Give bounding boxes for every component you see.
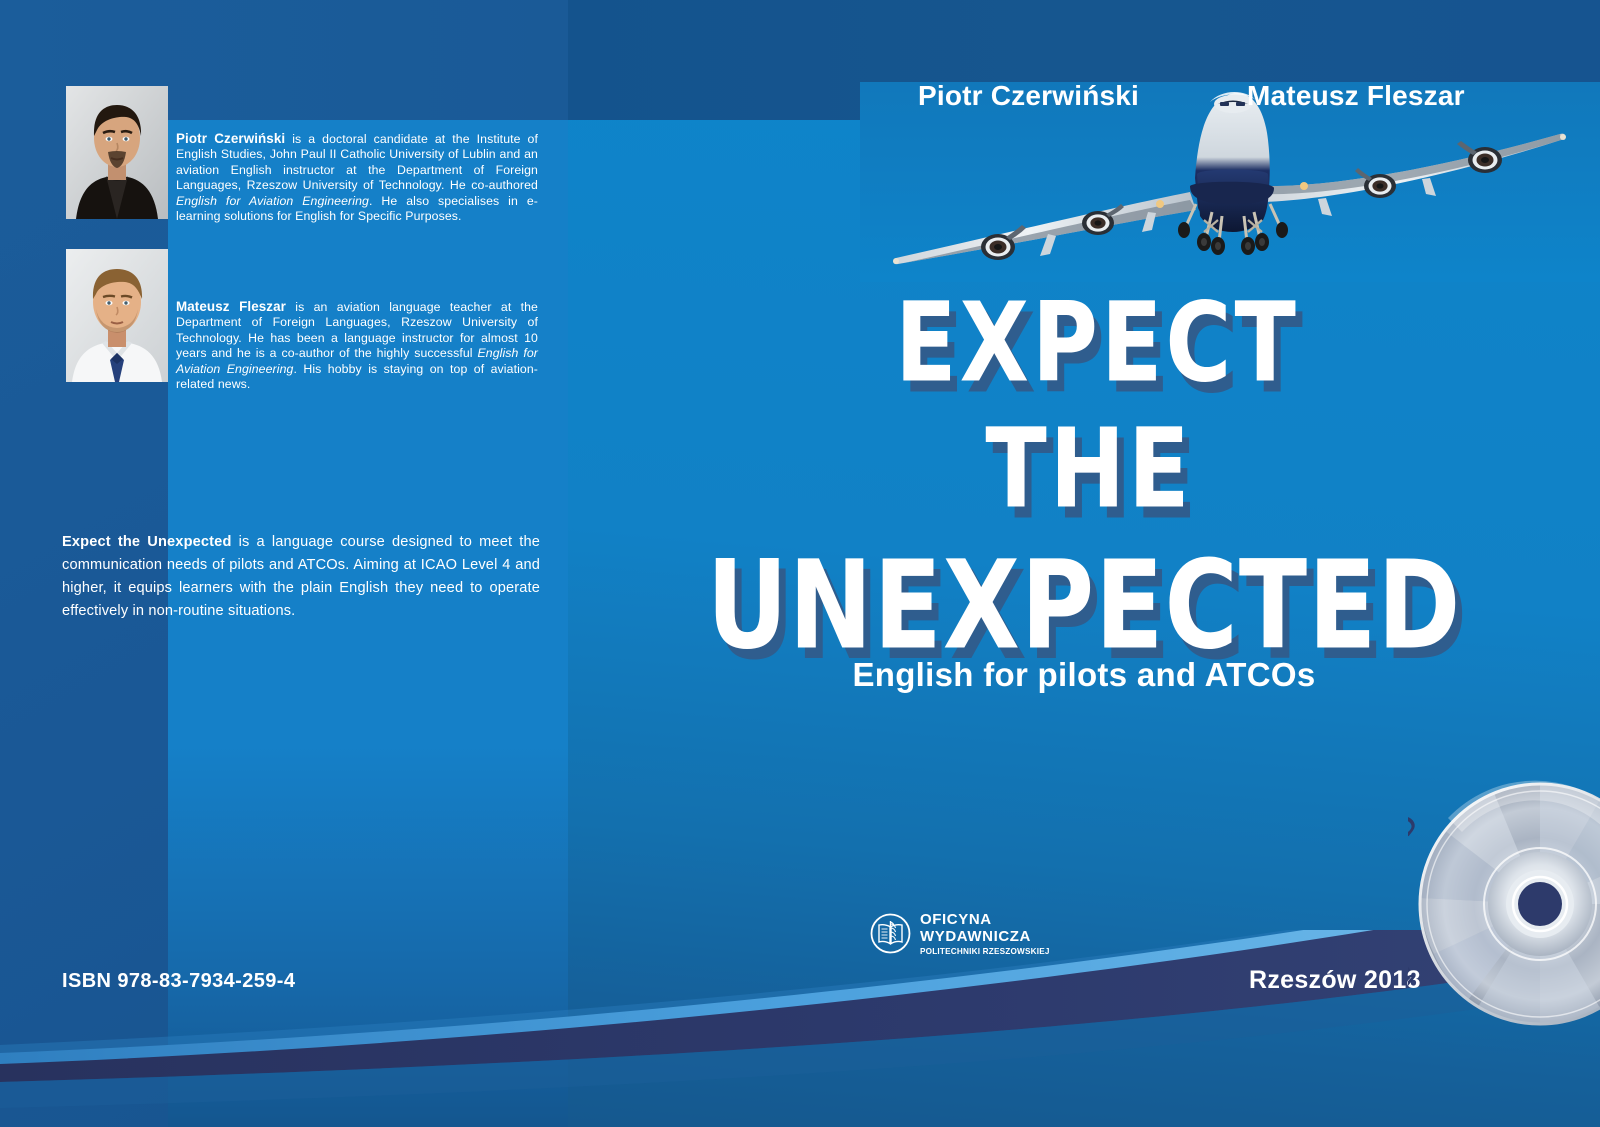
title-line-2: THE: [578, 416, 1600, 524]
audio-cd-badge: with Audio CD: [1408, 778, 1600, 1043]
book-blurb: Expect the Unexpected is a language cour…: [62, 531, 540, 623]
publisher-line-3: POLITECHNIKI RZESZOWSKIEJ: [920, 947, 1050, 956]
front-author-1: Piotr Czerwiński: [918, 80, 1139, 112]
airplane-photo: [860, 82, 1600, 282]
book-wheat-emblem-icon: [870, 913, 911, 954]
book-subtitle: English for pilots and ATCOs: [568, 656, 1600, 694]
year-place-text: Rzeszów 2018: [1249, 966, 1421, 995]
front-author-2: Mateusz Fleszar: [1247, 80, 1465, 112]
bio-author-name: Mateusz Fleszar: [176, 299, 286, 314]
bottom-wave-graphic: [0, 930, 1600, 1127]
publisher-logo: OFICYNA WYDAWNICZA POLITECHNIKI RZESZOWS…: [870, 912, 1050, 956]
title-line-3: UNEXPECTED: [568, 546, 1600, 666]
book-title: EXPECT THE UNEXPECTED: [568, 290, 1600, 644]
publisher-line-2: WYDAWNICZA: [920, 929, 1050, 946]
blurb-title: Expect the Unexpected: [62, 534, 232, 550]
bio-mateusz-fleszar: Mateusz Fleszar is an aviation language …: [176, 299, 538, 392]
photo-piotr-czerwinski: [66, 86, 168, 219]
photo-mateusz-fleszar: [66, 249, 168, 382]
publisher-line-1: OFICYNA: [920, 912, 1050, 929]
title-line-1: EXPECT: [594, 290, 1600, 398]
bio-italic-title: English for Aviation Engineering: [176, 194, 369, 208]
book-cover-spread: Piotr Czerwiński is a doctoral candidate…: [0, 0, 1600, 1127]
bio-author-name: Piotr Czerwiński: [176, 131, 285, 146]
bio-piotr-czerwinski: Piotr Czerwiński is a doctoral candidate…: [176, 131, 538, 224]
